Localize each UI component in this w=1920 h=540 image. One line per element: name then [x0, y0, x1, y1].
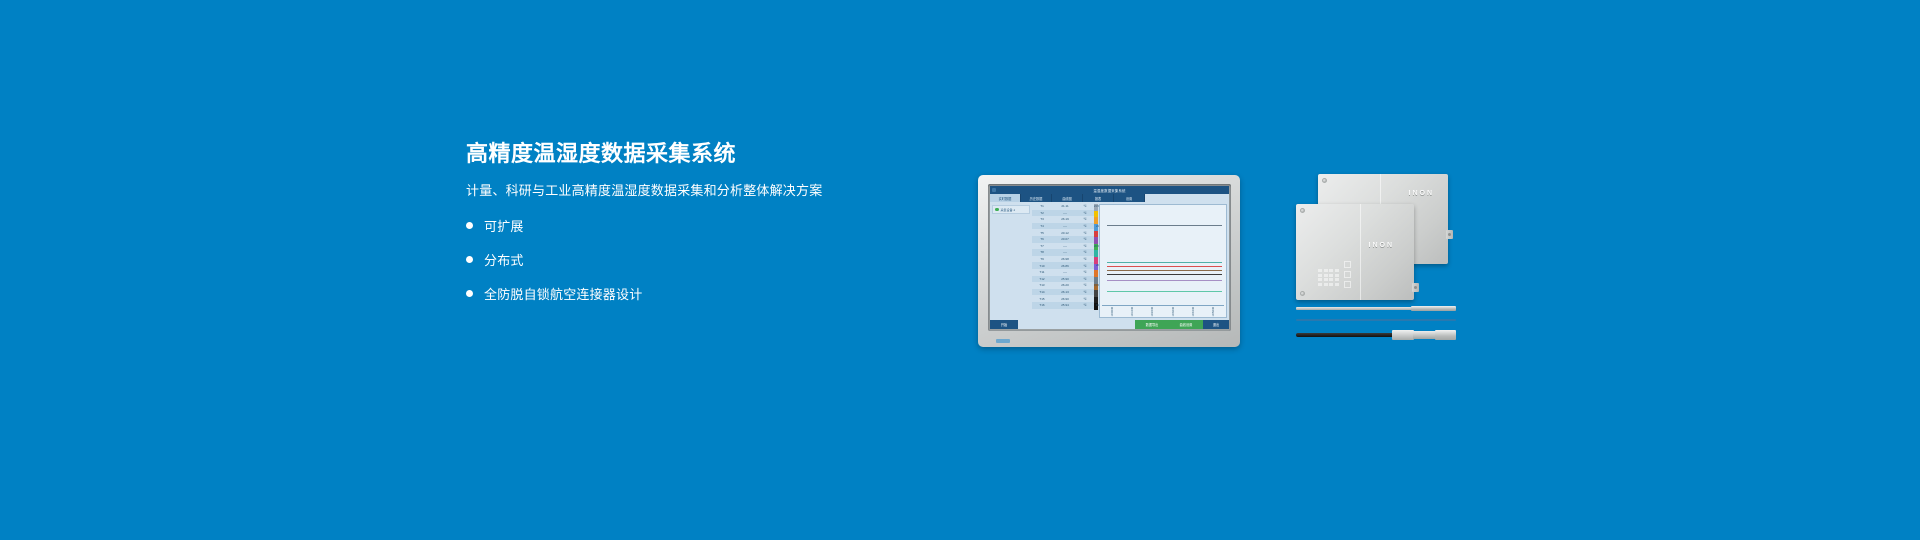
table-row[interactable]: T1625.94℃ [1032, 302, 1094, 309]
list-item: 可扩展 [466, 216, 886, 235]
value-cell: ---- [1052, 270, 1078, 274]
value-cell: 25.94 [1052, 303, 1078, 307]
value-cell: 26.13 [1052, 290, 1078, 294]
channel-cell: T4 [1032, 224, 1052, 228]
footer-spacer [1018, 320, 1135, 329]
probe-body [1413, 331, 1437, 339]
tab-strip-filler [1145, 194, 1229, 202]
channel-cell: T14 [1032, 290, 1052, 294]
hero-text-block: 高精度温湿度数据采集系统 计量、科研与工业高精度温湿度数据采集和分析整体解决方案… [466, 140, 886, 318]
channel-cell: T16 [1032, 303, 1052, 307]
table-row[interactable]: T1026.86℃ [1032, 262, 1094, 269]
value-cell: 20.12 [1052, 231, 1078, 235]
tab-report[interactable]: 报表 [1083, 194, 1114, 202]
monitor-bezel: 温湿度数据采集系统 实时数据 历史数据 曲线图 报表 设置 [978, 175, 1240, 347]
feature-label: 可扩展 [484, 216, 524, 235]
x-tick-label: 10:10:00 [1131, 307, 1134, 316]
chart-series-line [1107, 270, 1222, 271]
channel-cell: T8 [1032, 250, 1052, 254]
start-button[interactable]: 开始 [990, 320, 1018, 329]
channel-cell: T2 [1032, 211, 1052, 215]
table-row[interactable]: T1526.90℃ [1032, 295, 1094, 302]
table-row[interactable]: T520.12℃ [1032, 229, 1094, 236]
chart-series-line [1107, 225, 1222, 226]
port-grid-icon [1318, 269, 1339, 286]
feature-list: 可扩展 分布式 全防脱自锁航空连接器设计 [466, 216, 886, 303]
channel-cell: T9 [1032, 257, 1052, 261]
value-cell: ---- [1052, 211, 1078, 215]
product-hero-banner: 高精度温湿度数据采集系统 计量、科研与工业高精度温湿度数据采集和分析整体解决方案… [0, 0, 1920, 540]
channel-cell: T5 [1032, 231, 1052, 235]
table-row[interactable]: T326.19℃ [1032, 216, 1094, 223]
app-title-bar: 温湿度数据采集系统 [990, 186, 1229, 194]
table-row[interactable]: T121.11℃ [1032, 203, 1094, 210]
probe-head [1435, 330, 1456, 340]
app-tab-strip: 实时数据 历史数据 曲线图 报表 设置 [990, 194, 1229, 202]
y-tick-label: 20.5 [1094, 245, 1099, 248]
hero-subtitle: 计量、科研与工业高精度温湿度数据采集和分析整体解决方案 [466, 180, 886, 199]
chart-series-line [1107, 291, 1222, 292]
table-row[interactable]: T926.98℃ [1032, 256, 1094, 263]
feature-label: 全防脱自锁航空连接器设计 [484, 284, 642, 303]
feature-label: 分布式 [484, 250, 524, 269]
table-row[interactable]: T11----℃ [1032, 269, 1094, 276]
value-cell: ---- [1052, 244, 1078, 248]
channel-cell: T6 [1032, 237, 1052, 241]
page-title: 高精度温湿度数据采集系统 [466, 140, 886, 168]
connector-marks-icon [1344, 261, 1351, 288]
channel-cell: T1 [1032, 204, 1052, 208]
table-row[interactable]: T4----℃ [1032, 223, 1094, 230]
bullet-dot-icon [466, 222, 473, 229]
table-row[interactable]: T1326.20℃ [1032, 282, 1094, 289]
tab-settings[interactable]: 设置 [1114, 194, 1145, 202]
chart-series-line [1107, 274, 1222, 275]
value-cell: 26.19 [1052, 217, 1078, 221]
bullet-dot-icon [466, 256, 473, 263]
probe-cable [1296, 333, 1395, 337]
value-cell: 21.11 [1052, 204, 1078, 208]
mounting-lug [1446, 230, 1453, 239]
x-tick-label: 10:00:00 [1111, 307, 1114, 316]
channel-cell: T11 [1032, 270, 1052, 274]
channel-cell: T10 [1032, 264, 1052, 268]
chart-plot-area [1102, 207, 1224, 305]
exit-button[interactable]: 退出 [1203, 320, 1229, 329]
table-row[interactable]: T1225.90℃ [1032, 276, 1094, 283]
y-tick-label: 19.5 [1094, 284, 1099, 287]
monitor-indicator-light [996, 339, 1010, 343]
probe-cable [1296, 319, 1456, 321]
list-item: 分布式 [466, 250, 886, 269]
app-body: 采集设备-1 T121.11℃T2----℃T326.19℃T4----℃T52… [990, 202, 1229, 320]
chart-y-axis: 21.52120.52019.519 [1087, 205, 1100, 307]
sensor-probes [1296, 306, 1456, 348]
channel-cell: T15 [1032, 297, 1052, 301]
list-item: 全防脱自锁航空连接器设计 [466, 284, 886, 303]
screw-icon [1300, 208, 1305, 213]
value-cell: ---- [1052, 224, 1078, 228]
curve-settings-button[interactable]: 曲线设置 [1169, 320, 1203, 329]
table-row[interactable]: T7----℃ [1032, 243, 1094, 250]
channel-cell: T3 [1032, 217, 1052, 221]
value-cell: 26.90 [1052, 297, 1078, 301]
y-tick-label: 20 [1096, 264, 1099, 267]
x-tick-label: 10:40:00 [1192, 307, 1195, 316]
y-tick-label: 21 [1096, 225, 1099, 228]
table-row[interactable]: T2----℃ [1032, 210, 1094, 217]
chart-series-line [1107, 262, 1222, 263]
chart-series-line [1107, 266, 1222, 267]
brand-label: INON [1369, 242, 1395, 249]
probe-cable [1296, 307, 1414, 310]
table-row[interactable]: T8----℃ [1032, 249, 1094, 256]
monitor-screen-frame: 温湿度数据采集系统 实时数据 历史数据 曲线图 报表 设置 [988, 184, 1231, 331]
chart-series-line [1107, 280, 1222, 281]
screw-icon [1322, 178, 1327, 183]
acquisition-enclosures: INON INON [1296, 174, 1456, 304]
value-cell: 25.90 [1052, 277, 1078, 281]
app-window-title: 温湿度数据采集系统 [990, 188, 1229, 193]
value-cell: 20.07 [1052, 237, 1078, 241]
device-tree-panel: 采集设备-1 [990, 202, 1032, 320]
status-online-icon [995, 208, 999, 212]
probe-tip [1411, 306, 1456, 311]
value-cell: 26.98 [1052, 257, 1078, 261]
bullet-dot-icon [466, 290, 473, 297]
tree-item-device[interactable]: 采集设备-1 [992, 205, 1030, 214]
y-tick-label: 21.5 [1094, 205, 1099, 208]
x-tick-label: 10:20:00 [1151, 307, 1154, 316]
trend-chart: 21.52120.52019.519 10:00:0010:10:0010:20… [1099, 204, 1227, 318]
channel-cell: T13 [1032, 283, 1052, 287]
value-cell: 26.20 [1052, 283, 1078, 287]
tab-curve-chart[interactable]: 曲线图 [1052, 194, 1083, 202]
value-cell: ---- [1052, 250, 1078, 254]
export-data-button[interactable]: 数据导出 [1135, 320, 1169, 329]
enclosure-front-unit: INON [1296, 204, 1414, 300]
channel-cell: T12 [1032, 277, 1052, 281]
channel-table: T121.11℃T2----℃T326.19℃T4----℃T520.12℃T6… [1032, 202, 1094, 320]
brand-label: INON [1409, 190, 1435, 197]
mounting-lug [1412, 283, 1419, 292]
y-tick-label: 19 [1096, 304, 1099, 307]
app-footer-bar: 开始 数据导出 曲线设置 退出 [990, 320, 1229, 329]
channel-cell: T7 [1032, 244, 1052, 248]
tab-history-data[interactable]: 历史数据 [1021, 194, 1052, 202]
panel-pc-monitor: 温湿度数据采集系统 实时数据 历史数据 曲线图 报表 设置 [978, 175, 1240, 347]
x-tick-label: 10:50:00 [1212, 307, 1215, 316]
table-row[interactable]: T620.07℃ [1032, 236, 1094, 243]
x-tick-label: 10:30:00 [1172, 307, 1175, 316]
value-cell: 26.86 [1052, 264, 1078, 268]
screw-icon [1300, 291, 1305, 296]
table-row[interactable]: T1426.13℃ [1032, 289, 1094, 296]
tree-item-label: 采集设备-1 [1001, 208, 1016, 212]
software-screen: 温湿度数据采集系统 实时数据 历史数据 曲线图 报表 设置 [990, 186, 1229, 329]
tab-realtime-data[interactable]: 实时数据 [990, 194, 1021, 202]
aviation-connector [1392, 330, 1414, 340]
chart-x-axis: 10:00:0010:10:0010:20:0010:30:0010:40:00… [1102, 305, 1224, 316]
